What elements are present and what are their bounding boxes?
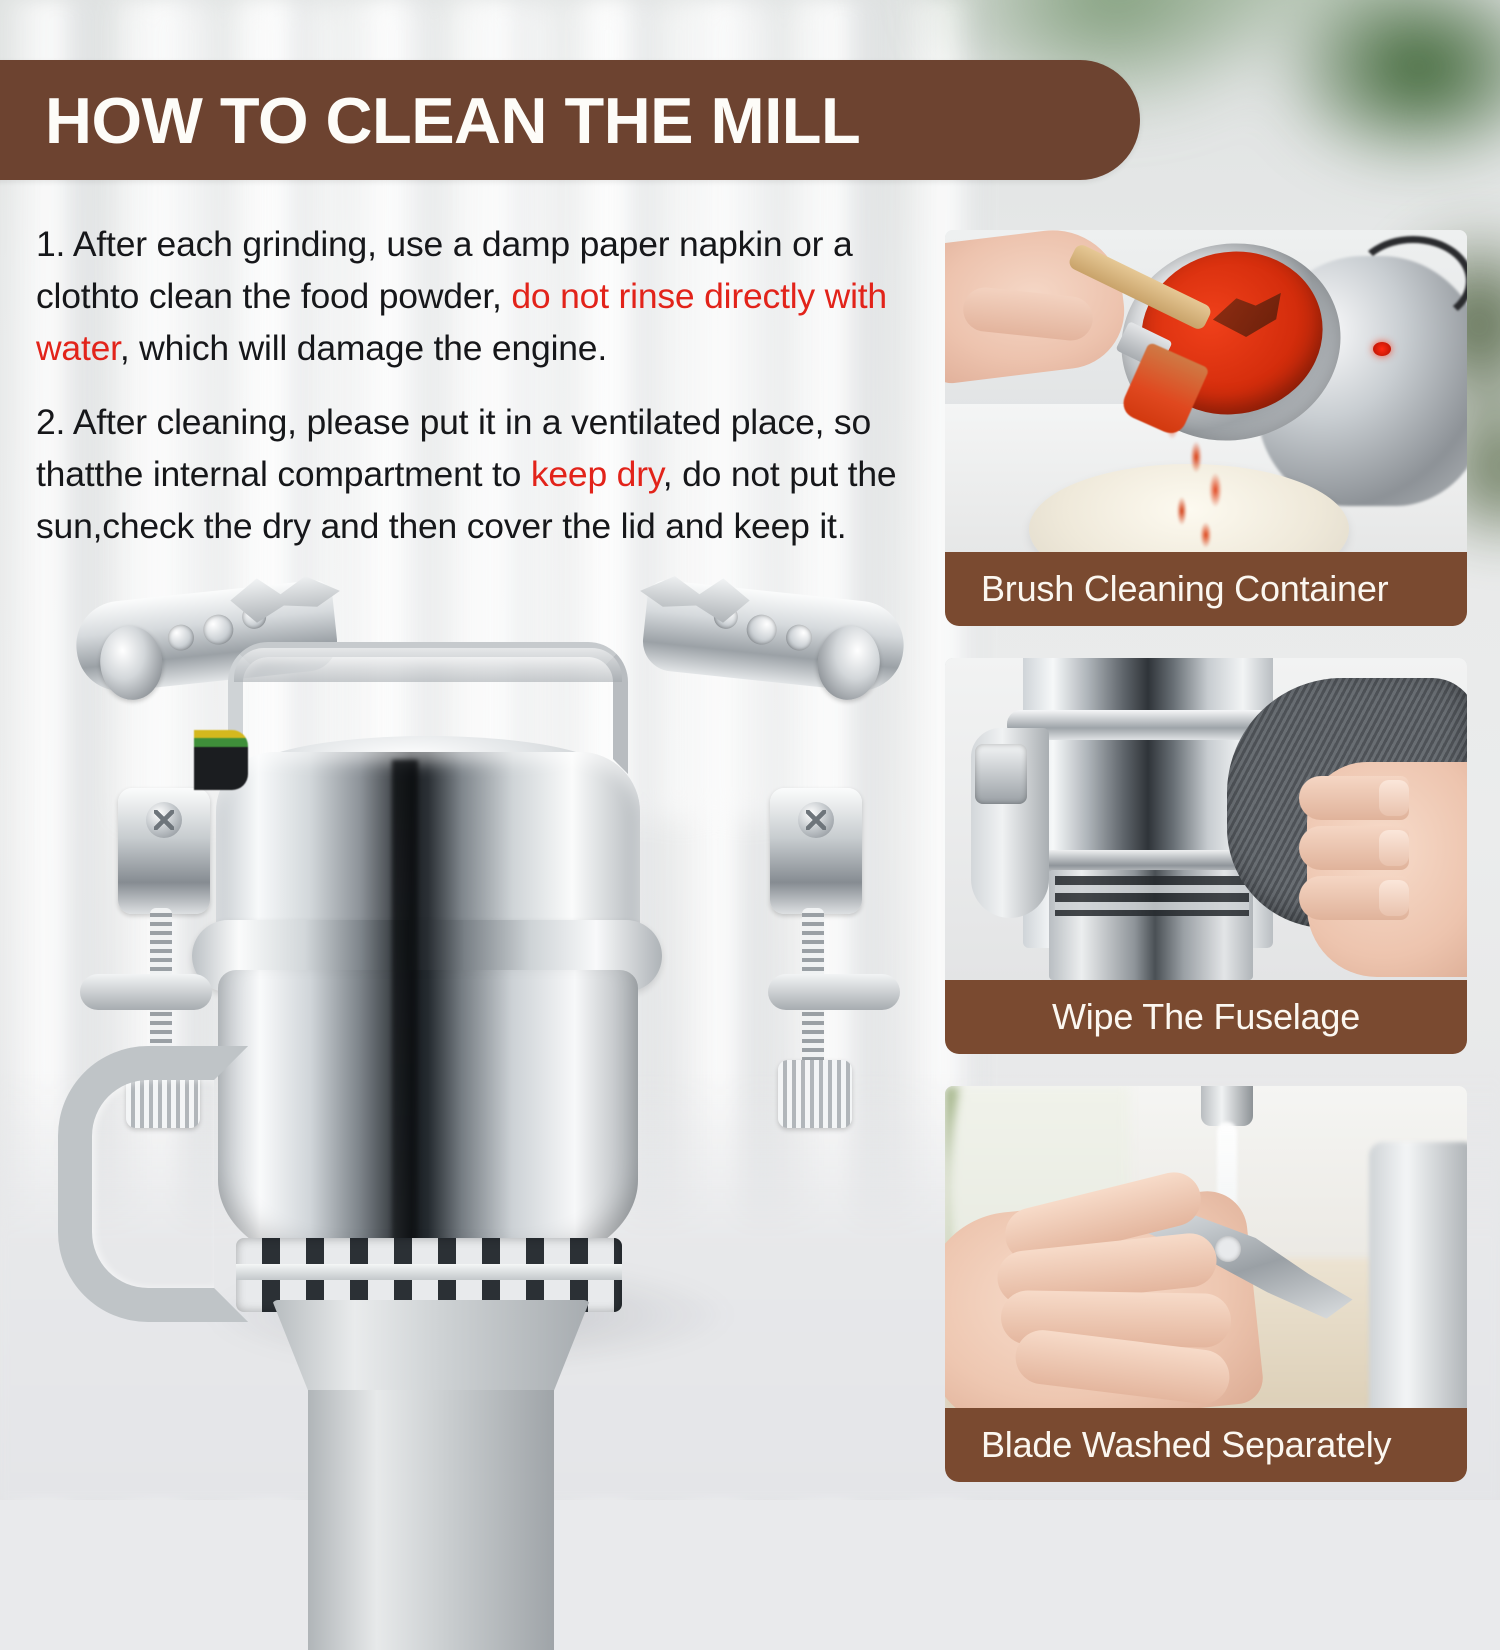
photo-wipe-the-fuselage <box>945 658 1467 980</box>
photo-cards: Brush Cleaning Container <box>945 230 1467 1482</box>
clamp-block-right <box>770 788 862 914</box>
instructions-block: 1. After each grinding, use a damp paper… <box>36 218 926 552</box>
photo-2-fingernail-2 <box>1379 830 1409 866</box>
mill-side-handle-body <box>58 1046 248 1322</box>
photo-2-vent-slots <box>1055 876 1249 916</box>
photo-3-blade-hole <box>1215 1236 1241 1262</box>
caption-label-3: Blade Washed Separately <box>981 1424 1391 1466</box>
mill-collar-band <box>236 1264 622 1280</box>
clamp-plate-right <box>768 974 900 1010</box>
instruction-2-highlight: keep dry <box>531 454 663 494</box>
photo-2-fingernail-3 <box>1379 880 1409 916</box>
clamp-assembly-left <box>118 788 210 958</box>
mill-side-handle <box>58 1046 248 1322</box>
photo-3-scene <box>945 1086 1467 1408</box>
photo-card-wipe-the-fuselage: Wipe The Fuselage <box>945 658 1467 1054</box>
caption-label-2: Wipe The Fuselage <box>1052 996 1360 1038</box>
photo-1-power-cord <box>1353 236 1467 326</box>
mill-reflection-stripe <box>392 760 418 1280</box>
caption-brush-cleaning-container: Brush Cleaning Container <box>945 552 1467 626</box>
photo-card-brush-cleaning-container: Brush Cleaning Container <box>945 230 1467 626</box>
instruction-1-text-b: , which will damage the engine. <box>120 328 607 368</box>
mill-motor-housing <box>272 1300 590 1396</box>
photo-3-faucet-icon <box>1201 1086 1253 1126</box>
mill-illustration <box>40 570 940 1500</box>
page-title: HOW TO CLEAN THE MILL <box>45 83 860 158</box>
clamp-plate-left <box>80 974 212 1010</box>
caption-label-1: Brush Cleaning Container <box>981 568 1388 610</box>
instruction-paragraph-1: 1. After each grinding, use a damp paper… <box>36 218 926 374</box>
mill-wire-bundle <box>194 730 248 790</box>
header-banner: HOW TO CLEAN THE MILL <box>0 60 1140 180</box>
clamp-screw-right <box>798 802 834 838</box>
photo-2-clamp-knob <box>975 744 1027 804</box>
mill-bowl <box>218 970 638 1270</box>
product-photo <box>40 570 940 1500</box>
photo-blade-washed-separately <box>945 1086 1467 1408</box>
photo-1-power-indicator-icon <box>1373 342 1391 356</box>
photo-brush-cleaning-container <box>945 230 1467 552</box>
caption-wipe-the-fuselage: Wipe The Fuselage <box>945 980 1467 1054</box>
mill-base-stem <box>308 1390 554 1650</box>
mill-lid <box>216 752 640 942</box>
photo-card-blade-washed-separately: Blade Washed Separately <box>945 1086 1467 1482</box>
caption-blade-washed-separately: Blade Washed Separately <box>945 1408 1467 1482</box>
clamp-block-left <box>118 788 210 914</box>
photo-3-sink <box>1369 1142 1467 1408</box>
clamp-screw-left <box>146 802 182 838</box>
clamp-assembly-right <box>770 788 862 958</box>
clamp-knurled-knob-right <box>778 1060 852 1128</box>
photo-2-fingernail-1 <box>1379 780 1409 816</box>
photo-2-scene <box>945 658 1467 980</box>
photo-1-scene <box>945 230 1467 552</box>
clamp-lever-right <box>640 579 908 696</box>
instruction-paragraph-2: 2. After cleaning, please put it in a ve… <box>36 396 926 552</box>
